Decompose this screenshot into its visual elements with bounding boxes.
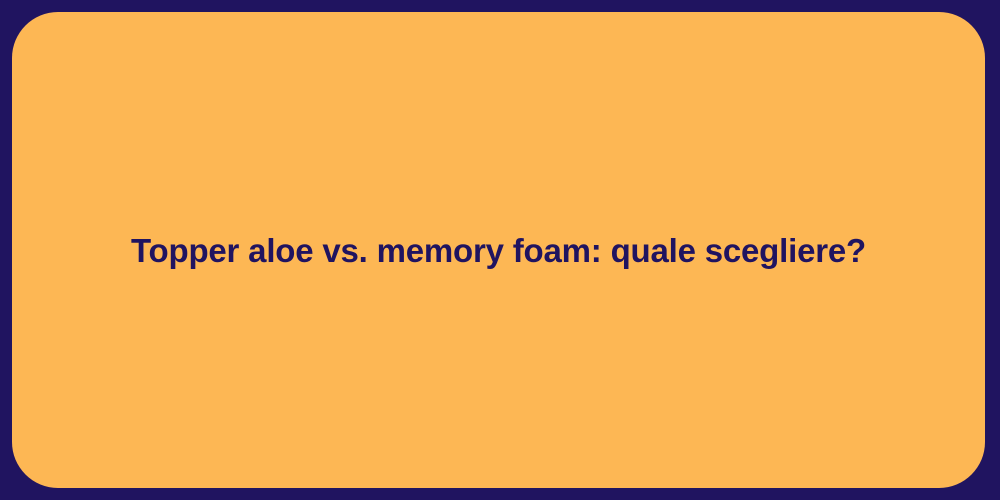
banner-card: Topper aloe vs. memory foam: quale scegl… — [12, 12, 985, 488]
banner-headline: Topper aloe vs. memory foam: quale scegl… — [12, 230, 985, 271]
banner-frame: Topper aloe vs. memory foam: quale scegl… — [0, 0, 1000, 500]
